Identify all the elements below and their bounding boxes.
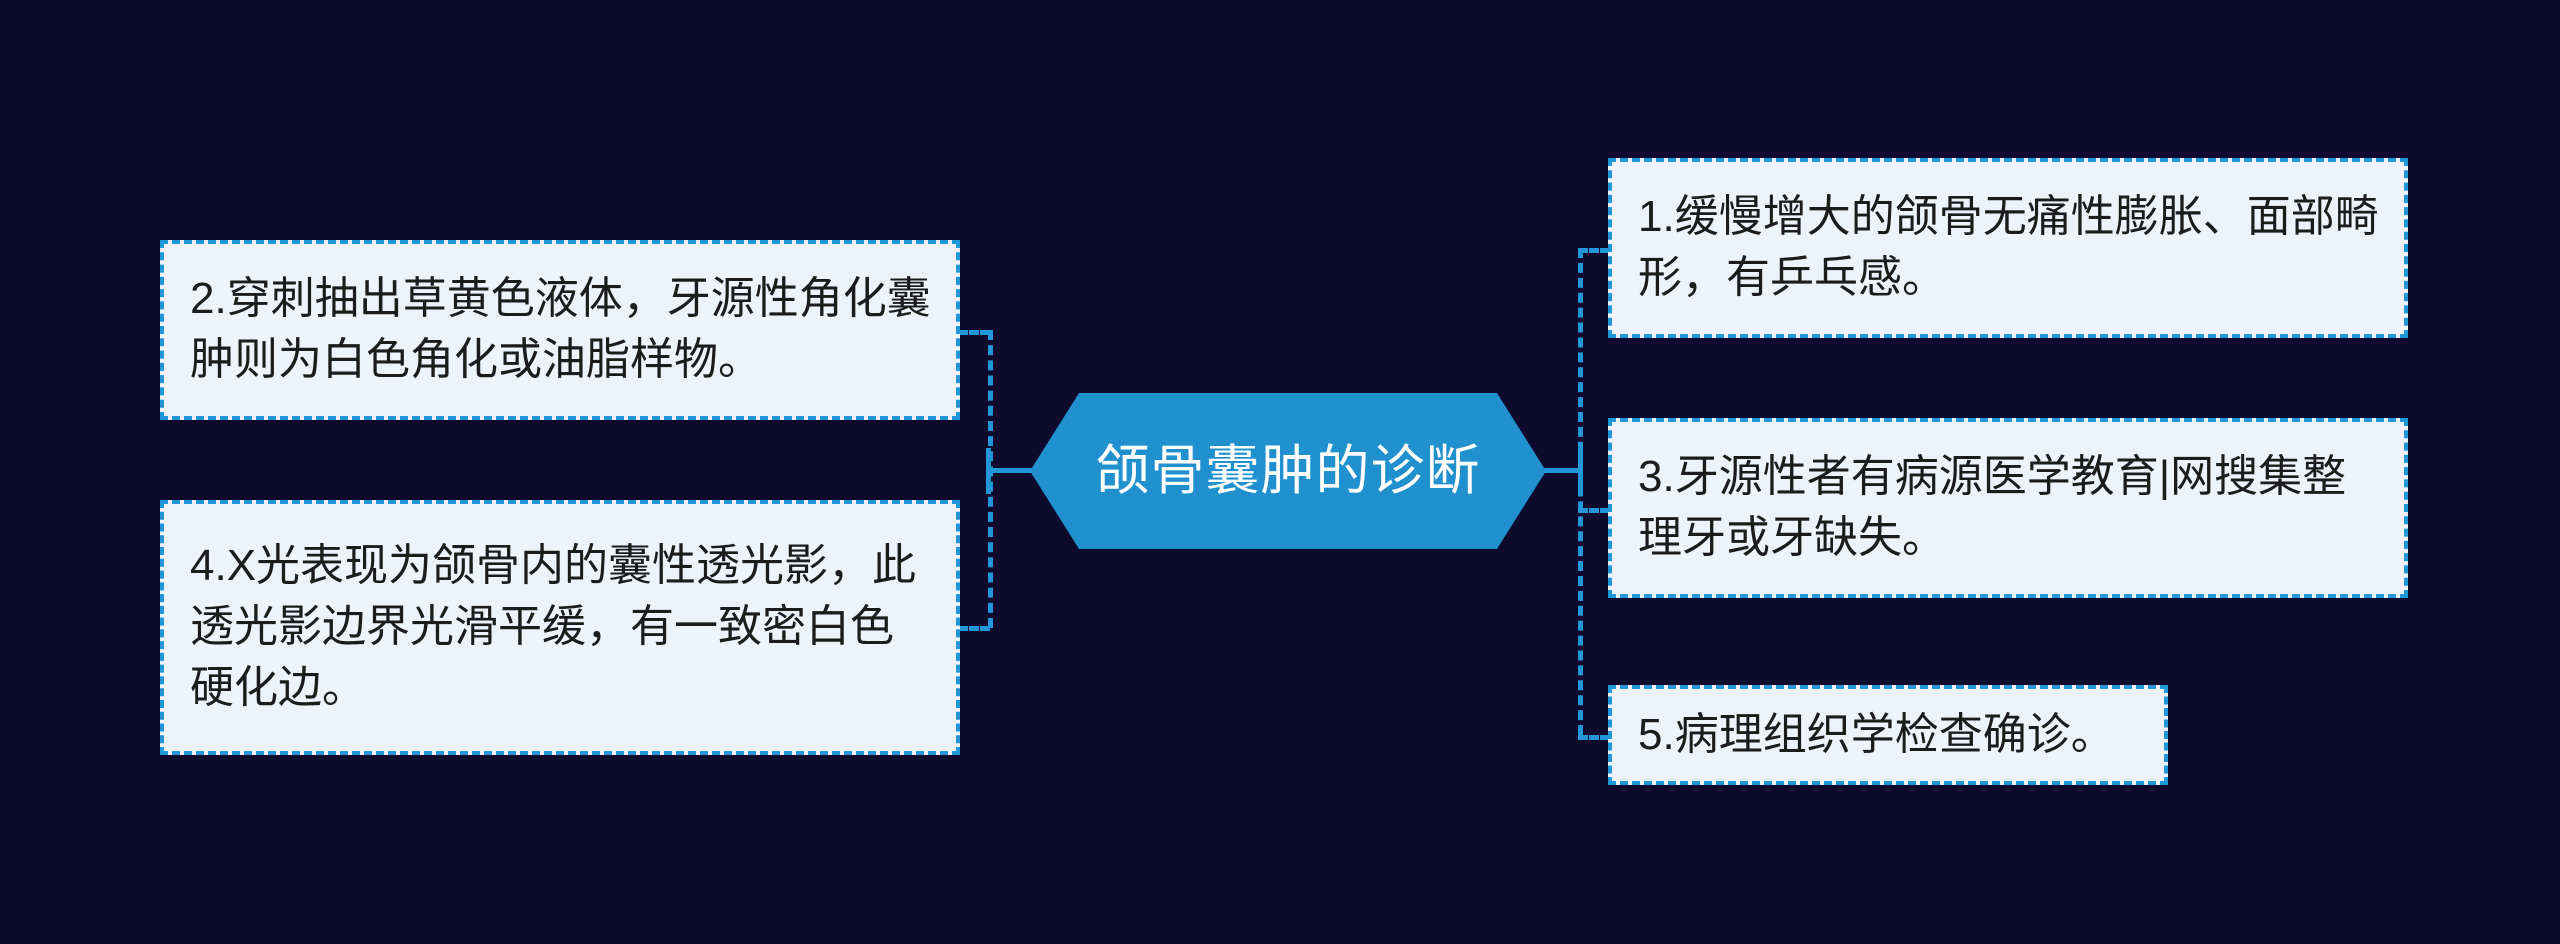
- connector-stub-branch-2: [958, 330, 990, 335]
- center-node-label: 颌骨囊肿的诊断: [1096, 444, 1481, 498]
- connector-stub-branch-1: [1578, 248, 1610, 253]
- branch-node-1[interactable]: 1.缓慢增大的颌骨无痛性膨胀、面部畸形，有乒乓感。: [1608, 158, 2408, 338]
- branch-node-5-text: 5.病理组织学检查确诊。: [1612, 705, 2164, 766]
- branch-node-2[interactable]: 2.穿刺抽出草黄色液体，牙源性角化囊肿则为白色角化或油脂样物。: [160, 240, 960, 420]
- connector-center-left: [988, 468, 1032, 473]
- connector-center-right: [1542, 468, 1582, 473]
- branch-node-3[interactable]: 3.牙源性者有病源医学教育|网搜集整理牙或牙缺失。: [1608, 418, 2408, 598]
- connector-stub-branch-3: [1578, 508, 1610, 513]
- branch-node-1-text: 1.缓慢增大的颌骨无痛性膨胀、面部畸形，有乒乓感。: [1612, 187, 2404, 308]
- center-node-hexagon[interactable]: 颌骨囊肿的诊断: [1030, 393, 1546, 549]
- branch-node-5[interactable]: 5.病理组织学检查确诊。: [1608, 685, 2168, 785]
- connector-stub-branch-4: [958, 626, 990, 631]
- diagram-canvas: 颌骨囊肿的诊断 2.穿刺抽出草黄色液体，牙源性角化囊肿则为白色角化或油脂样物。 …: [0, 0, 2560, 944]
- branch-node-3-text: 3.牙源性者有病源医学教育|网搜集整理牙或牙缺失。: [1612, 447, 2404, 568]
- branch-node-4-text: 4.X光表现为颌骨内的囊性透光影，此透光影边界光滑平缓，有一致密白色硬化边。: [164, 536, 956, 718]
- connector-stub-branch-5: [1578, 735, 1610, 740]
- branch-node-2-text: 2.穿刺抽出草黄色液体，牙源性角化囊肿则为白色角化或油脂样物。: [164, 269, 956, 390]
- branch-node-4[interactable]: 4.X光表现为颌骨内的囊性透光影，此透光影边界光滑平缓，有一致密白色硬化边。: [160, 500, 960, 755]
- connector-joint-right: [1578, 448, 1583, 494]
